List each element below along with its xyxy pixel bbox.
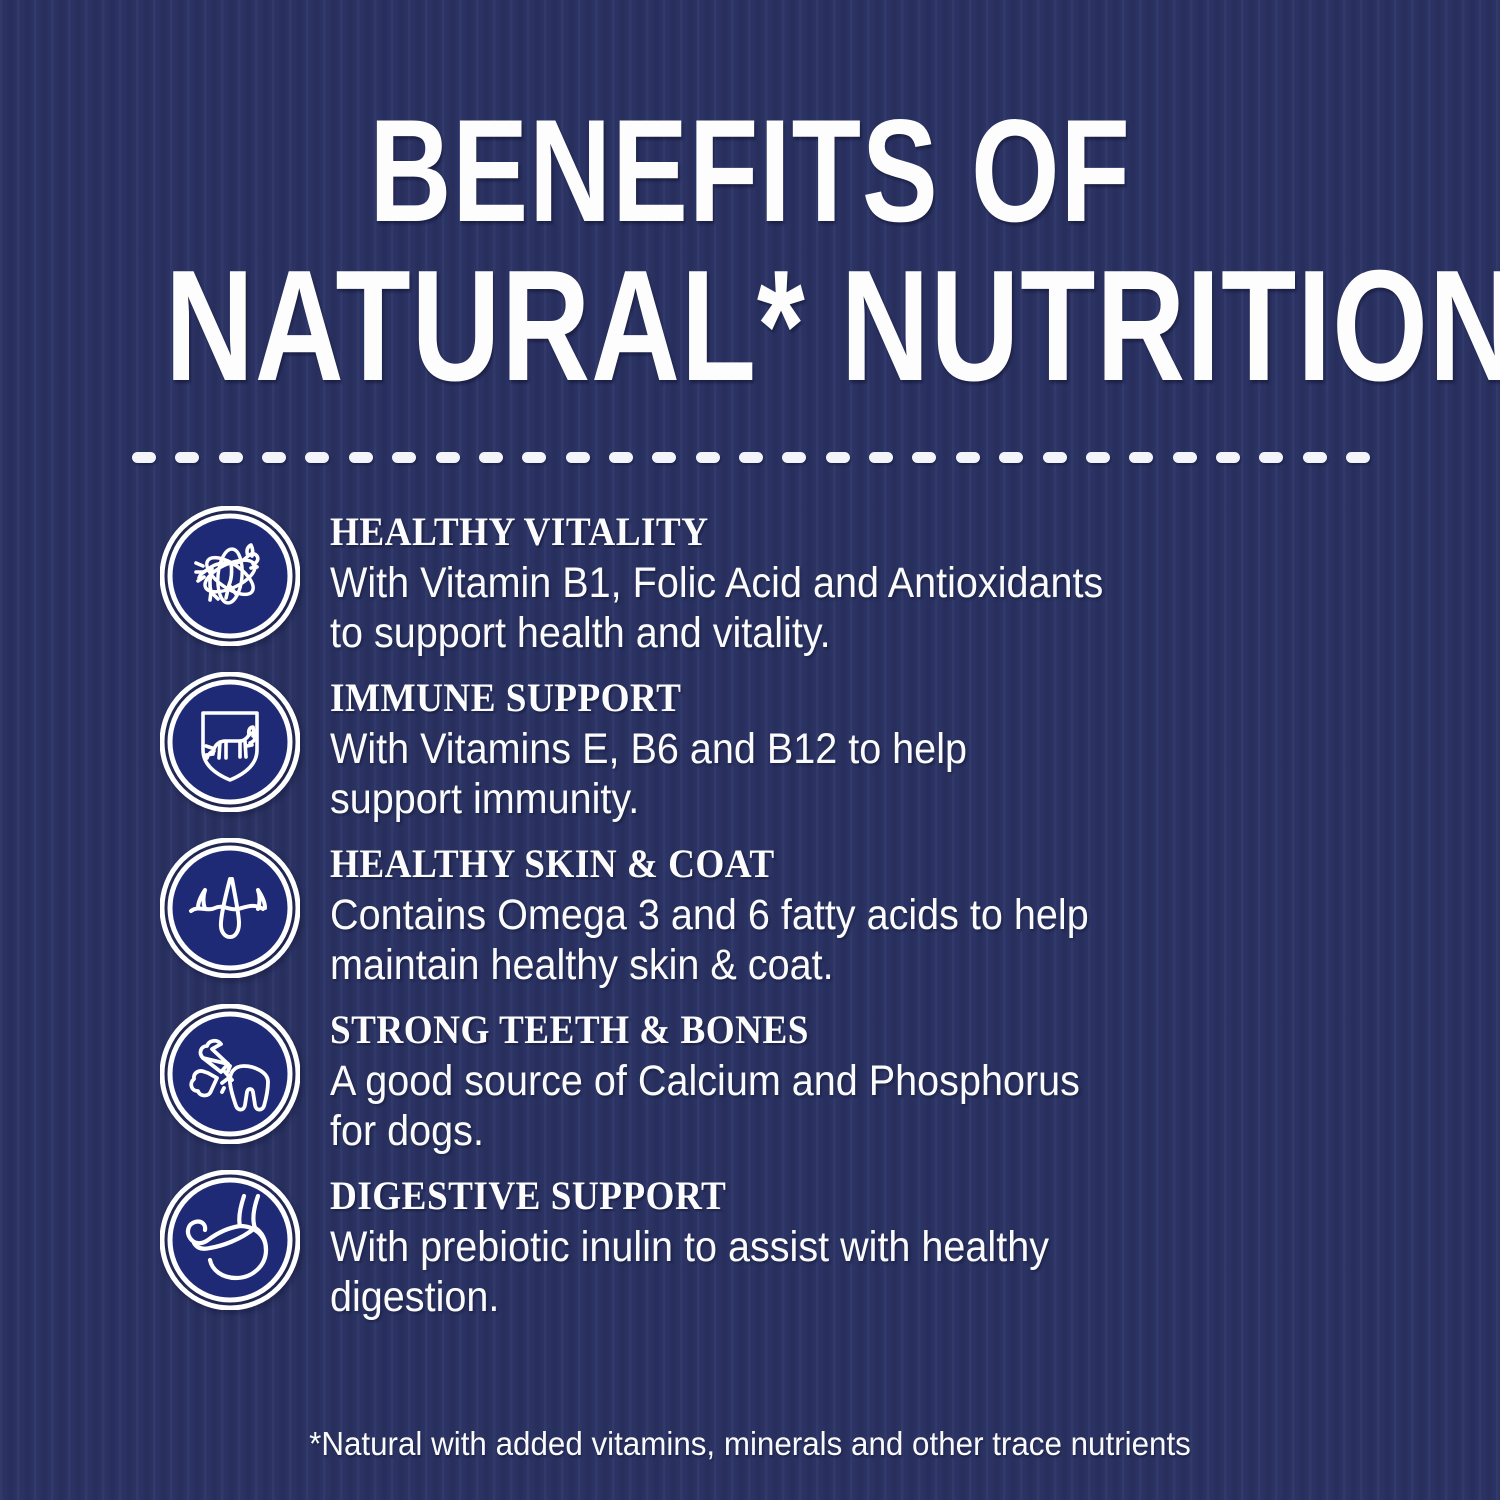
bone-tooth-icon <box>160 1004 300 1144</box>
benefit-description-line: With Vitamin B1, Folic Acid and Antioxid… <box>330 558 1213 608</box>
divider-dash <box>826 452 850 463</box>
divider-dash <box>479 452 503 463</box>
benefit-description-line: Contains Omega 3 and 6 fatty acids to he… <box>330 890 1213 940</box>
benefit-description-line: With Vitamins E, B6 and B12 to help <box>330 724 1213 774</box>
benefit-title: HEALTHY SKIN & COAT <box>330 842 1223 886</box>
benefit-text: HEALTHY SKIN & COATContains Omega 3 and … <box>330 832 1290 990</box>
divider-dash <box>1303 452 1327 463</box>
benefit-description: A good source of Calcium and Phosphorusf… <box>330 1056 1213 1156</box>
divider-dash <box>1173 452 1197 463</box>
benefit-description-line: digestion. <box>330 1272 1213 1322</box>
divider-dash <box>262 452 286 463</box>
benefit-description-line: maintain healthy skin & coat. <box>330 940 1213 990</box>
divider-dash <box>219 452 243 463</box>
benefit-title: HEALTHY VITALITY <box>330 510 1223 554</box>
divider-dash <box>1259 452 1283 463</box>
divider-dash <box>652 452 676 463</box>
divider-dash <box>522 452 546 463</box>
benefit-title: STRONG TEETH & BONES <box>330 1008 1223 1052</box>
divider-dash <box>392 452 416 463</box>
divider-dash <box>349 452 373 463</box>
benefit-row: HEALTHY VITALITYWith Vitamin B1, Folic A… <box>0 500 1500 658</box>
benefit-description: With Vitamins E, B6 and B12 to helpsuppo… <box>330 724 1213 824</box>
divider-dash <box>912 452 936 463</box>
divider-dash <box>739 452 763 463</box>
divider-dash <box>999 452 1023 463</box>
divider-dash <box>869 452 893 463</box>
benefit-description: With prebiotic inulin to assist with hea… <box>330 1222 1213 1322</box>
divider-dash <box>175 452 199 463</box>
benefit-row: DIGESTIVE SUPPORTWith prebiotic inulin t… <box>0 1164 1500 1322</box>
divider-dash <box>1216 452 1240 463</box>
title-line-1: BENEFITS OF <box>165 96 1335 246</box>
divider-dash <box>305 452 329 463</box>
divider-dash <box>132 452 156 463</box>
divider-dash <box>609 452 633 463</box>
divider-dash <box>1129 452 1153 463</box>
benefit-description-line: for dogs. <box>330 1106 1213 1156</box>
divider-dash <box>436 452 460 463</box>
stomach-icon <box>160 1170 300 1310</box>
benefit-title: IMMUNE SUPPORT <box>330 676 1223 720</box>
footer-disclaimer: *Natural with added vitamins, minerals a… <box>38 1424 1463 1464</box>
benefit-description: With Vitamin B1, Folic Acid and Antioxid… <box>330 558 1213 658</box>
title-line-2: NATURAL* NUTRITION <box>165 246 1335 406</box>
benefit-row: IMMUNE SUPPORTWith Vitamins E, B6 and B1… <box>0 666 1500 824</box>
dashed-divider <box>132 452 1370 463</box>
divider-dash <box>1346 452 1370 463</box>
hair-follicle-icon <box>160 838 300 978</box>
benefit-description-line: A good source of Calcium and Phosphorus <box>330 1056 1213 1106</box>
divider-dash <box>696 452 720 463</box>
dog-atom-icon <box>160 506 300 646</box>
benefits-list: HEALTHY VITALITYWith Vitamin B1, Folic A… <box>0 500 1500 1330</box>
divider-dash <box>1043 452 1067 463</box>
benefit-text: IMMUNE SUPPORTWith Vitamins E, B6 and B1… <box>330 666 1290 824</box>
divider-dash <box>1086 452 1110 463</box>
divider-dash <box>956 452 980 463</box>
benefit-description-line: With prebiotic inulin to assist with hea… <box>330 1222 1213 1272</box>
benefit-text: HEALTHY VITALITYWith Vitamin B1, Folic A… <box>330 500 1290 658</box>
benefit-description-line: support immunity. <box>330 774 1213 824</box>
benefits-infographic: BENEFITS OF NATURAL* NUTRITION HEALTHY V… <box>0 0 1500 1500</box>
benefit-title: DIGESTIVE SUPPORT <box>330 1174 1223 1218</box>
benefit-text: DIGESTIVE SUPPORTWith prebiotic inulin t… <box>330 1164 1290 1322</box>
divider-dash <box>782 452 806 463</box>
benefit-row: STRONG TEETH & BONESA good source of Cal… <box>0 998 1500 1156</box>
benefit-description-line: to support health and vitality. <box>330 608 1213 658</box>
benefit-description: Contains Omega 3 and 6 fatty acids to he… <box>330 890 1213 990</box>
benefit-row: HEALTHY SKIN & COATContains Omega 3 and … <box>0 832 1500 990</box>
dog-shield-icon <box>160 672 300 812</box>
benefit-text: STRONG TEETH & BONESA good source of Cal… <box>330 998 1290 1156</box>
divider-dash <box>566 452 590 463</box>
page-title: BENEFITS OF NATURAL* NUTRITION <box>0 96 1500 406</box>
